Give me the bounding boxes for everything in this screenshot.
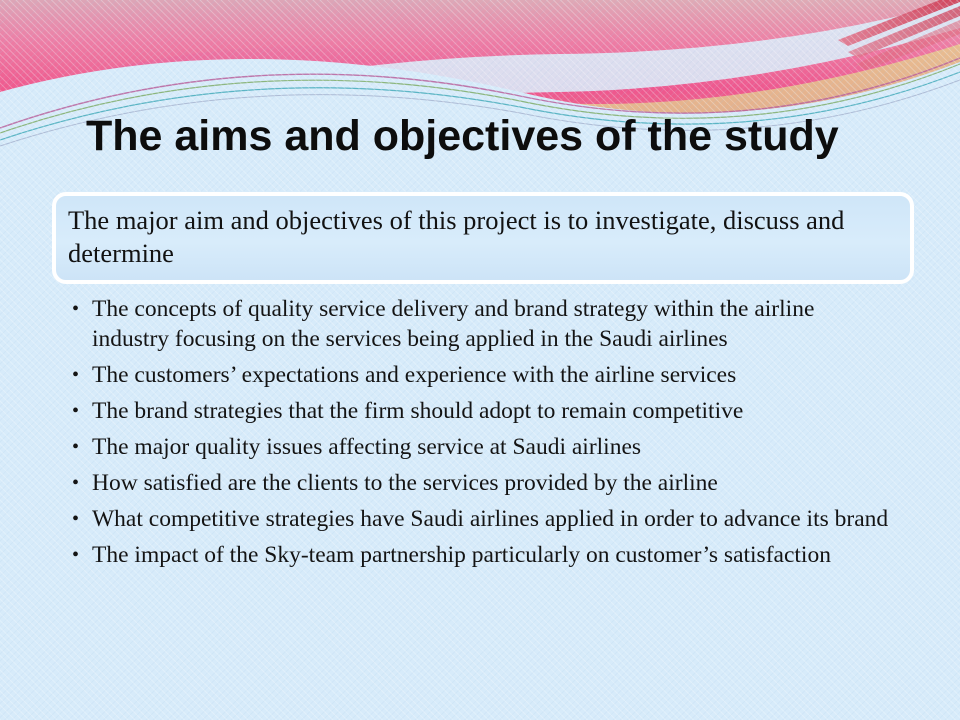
bullet-point-icon: • <box>66 360 92 390</box>
bullet-point-icon: • <box>66 396 92 426</box>
list-item-text: The brand strategies that the firm shoul… <box>92 396 896 426</box>
bullet-point-icon: • <box>66 504 92 534</box>
list-item: • What competitive strategies have Saudi… <box>66 504 896 534</box>
list-item-text: The impact of the Sky-team partnership p… <box>92 540 896 570</box>
list-item-text: How satisfied are the clients to the ser… <box>92 468 896 498</box>
list-item: • The brand strategies that the firm sho… <box>66 396 896 426</box>
list-item-text: The customers’ expectations and experien… <box>92 360 896 390</box>
list-item: • How satisfied are the clients to the s… <box>66 468 896 498</box>
objectives-list: • The concepts of quality service delive… <box>66 294 896 576</box>
presentation-slide: The aims and objectives of the study The… <box>0 0 960 720</box>
list-item: • The major quality issues affecting ser… <box>66 432 896 462</box>
list-item-text: The major quality issues affecting servi… <box>92 432 896 462</box>
list-item: • The impact of the Sky-team partnership… <box>66 540 896 570</box>
list-item-text: The concepts of quality service delivery… <box>92 294 896 354</box>
bullet-point-icon: • <box>66 540 92 570</box>
slide-title: The aims and objectives of the study <box>86 111 906 161</box>
list-item: • The concepts of quality service delive… <box>66 294 896 354</box>
list-item-text: What competitive strategies have Saudi a… <box>92 504 896 534</box>
bullet-point-icon: • <box>66 468 92 498</box>
main-aim-callout-box: The major aim and objectives of this pro… <box>52 192 914 284</box>
bullet-point-icon: • <box>66 432 92 462</box>
bullet-point-icon: • <box>66 294 92 324</box>
list-item: • The customers’ expectations and experi… <box>66 360 896 390</box>
main-aim-text: The major aim and objectives of this pro… <box>68 204 894 270</box>
